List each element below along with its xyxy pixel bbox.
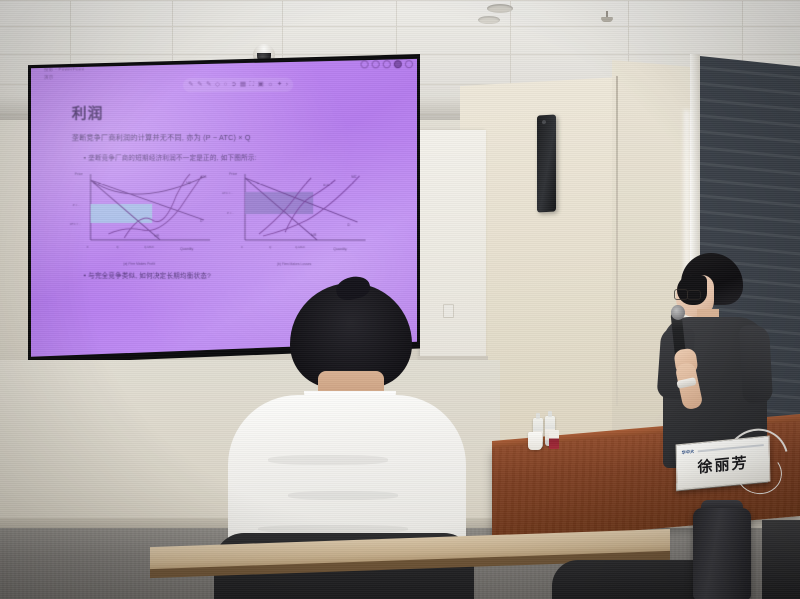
chart-a-xtick-0: 0 <box>87 245 89 249</box>
glasses-icon <box>674 289 700 298</box>
pointer-icon[interactable]: ➲ <box>231 82 236 89</box>
chart-b-xtick-0: 0 <box>241 245 243 249</box>
chart-a-xtick-q: Q <box>116 245 119 249</box>
curve-label-atc: ATC <box>200 175 207 179</box>
placard-org: 华中大 <box>682 449 695 456</box>
highlighter-icon[interactable]: ✎ <box>206 82 211 89</box>
restore-icon[interactable] <box>372 60 380 68</box>
chart-b-ytick-atc: ATC = .. <box>222 191 233 195</box>
fullscreen-icon[interactable]: ⛶ <box>250 82 255 89</box>
chart-firm-makes-profit: Price MC ATC D MR P = .. ATC = .. 0 <box>65 168 214 256</box>
more-icon[interactable]: › <box>286 82 288 89</box>
curve-label-d: D <box>347 223 350 227</box>
window-controls[interactable]: 演示文稿 放映 <box>361 60 413 68</box>
wand-icon[interactable]: ✦ <box>277 82 282 89</box>
slide-title: 利润 <box>72 102 104 123</box>
ceiling-vent-icon <box>478 16 500 24</box>
zoom-icon[interactable]: ☼ <box>267 82 273 89</box>
curve-label-mc: MC <box>351 175 357 179</box>
ceiling-vent-icon <box>487 4 513 13</box>
chart-b-ylabel: Price <box>229 172 237 176</box>
water-bottle <box>549 430 559 449</box>
slide-bullet-2: 与完全竞争类似, 如何决定长期均衡状态? <box>84 270 384 281</box>
wall-corner <box>616 76 618 406</box>
lasso-icon[interactable]: ○ <box>224 82 228 89</box>
thermos-bottle <box>693 508 751 599</box>
minimize-icon[interactable] <box>361 60 369 68</box>
pen-icon[interactable]: ✎ <box>197 82 202 89</box>
curve-label-mr: MR <box>154 234 160 238</box>
paper-cup <box>528 432 542 450</box>
app-subtitle: 演示 <box>44 75 54 81</box>
slide-bullet-1: 垄断竞争厂商的短期经济利润不一定是正的, 如下图所示: <box>84 152 384 162</box>
presenter-sleeve-right <box>739 324 773 403</box>
chart-a-xtick-qmax: Q-MAX <box>144 245 154 249</box>
wall-speaker <box>537 115 556 213</box>
pen-icon[interactable]: ✎ <box>188 82 193 89</box>
eraser-icon[interactable]: ◇ <box>215 82 220 89</box>
curve-label-atc: ATC <box>323 183 330 187</box>
chart-a-ytick-atc: ATC = .. <box>70 222 81 226</box>
annotation-toolbar[interactable]: ✎ ✎ ✎ ◇ ○ ➲ ▦ ⛶ ▣ ☼ ✦ › <box>183 78 293 92</box>
settings-icon[interactable] <box>394 60 402 68</box>
slide-body-text: 垄断竞争厂商利润的计算并无不同, 亦为 (P − ATC) × Q <box>72 133 372 144</box>
chart-firm-makes-losses: Price MC ATC D MR ATC = .. P = .. 0 <box>219 168 370 256</box>
conference-room-photo: 投影 - PowerPoint 演示 演示文稿 放映 ✎ ✎ ✎ ◇ ○ ➲ ▦… <box>0 0 800 599</box>
curve-label-mr: MR <box>311 233 317 237</box>
slide-icon[interactable]: ▣ <box>258 82 264 89</box>
chart-a-xlabel: Quantity <box>180 247 194 251</box>
chart-b-xtick-qmax: Q-MAX <box>295 245 305 249</box>
close-icon[interactable] <box>383 60 391 68</box>
chart-a-caption: (a) Firm Makes Profit <box>65 262 214 266</box>
chart-a-ylabel: Price <box>75 172 83 176</box>
grid-icon[interactable]: ▦ <box>240 82 246 89</box>
chart-b-xlabel: Quantity <box>333 247 347 251</box>
foreground-object <box>762 520 800 599</box>
chart-b-caption: (b) Firm Makes Losses <box>219 262 370 266</box>
chart-b-xtick-q: Q <box>269 245 272 249</box>
chart-a-ytick-price: P = .. <box>73 203 80 207</box>
chart-b-ytick-price: P = .. <box>227 211 234 215</box>
curve-label-mc: MC <box>186 181 192 185</box>
fire-sprinkler-icon <box>601 11 613 23</box>
menu-icon[interactable] <box>405 60 413 68</box>
